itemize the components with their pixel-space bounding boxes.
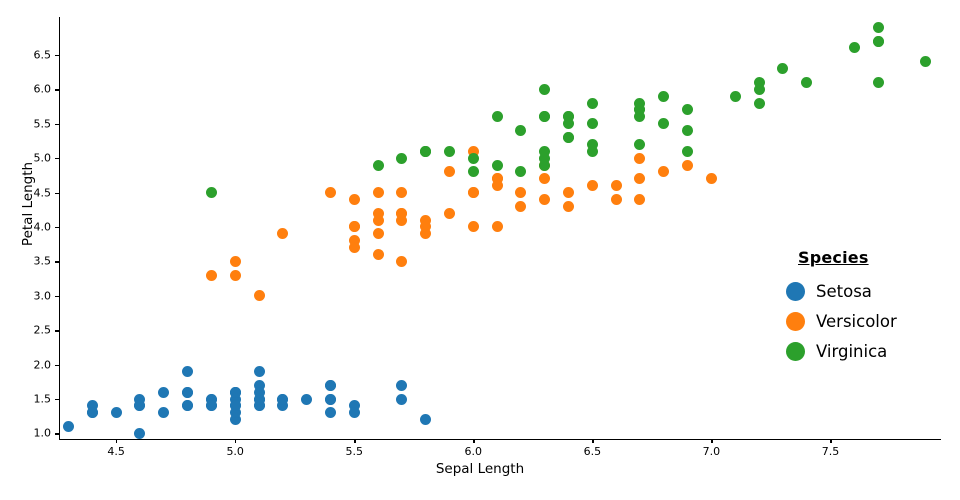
data-point xyxy=(492,111,503,122)
data-point xyxy=(754,98,765,109)
data-point xyxy=(658,91,669,102)
x-tick-mark xyxy=(354,439,355,443)
data-point xyxy=(658,166,669,177)
data-point xyxy=(468,166,479,177)
data-point xyxy=(182,400,193,411)
data-point xyxy=(396,394,407,405)
data-point xyxy=(634,194,645,205)
data-point xyxy=(634,153,645,164)
data-point xyxy=(468,187,479,198)
x-tick-label: 5.0 xyxy=(226,445,244,458)
data-point xyxy=(230,387,241,398)
data-point xyxy=(254,290,265,301)
x-tick-mark xyxy=(592,439,593,443)
data-point xyxy=(492,160,503,171)
data-point xyxy=(492,180,503,191)
data-point xyxy=(396,256,407,267)
data-point xyxy=(682,160,693,171)
data-point xyxy=(325,394,336,405)
data-point xyxy=(873,77,884,88)
data-point xyxy=(515,125,526,136)
data-point xyxy=(515,166,526,177)
legend-item-versicolor[interactable]: Versicolor xyxy=(786,306,956,336)
y-tick-mark xyxy=(55,227,59,228)
y-tick-mark xyxy=(55,158,59,159)
data-point xyxy=(158,387,169,398)
data-point xyxy=(396,215,407,226)
data-point xyxy=(611,180,622,191)
data-point xyxy=(563,201,574,212)
data-point xyxy=(539,194,550,205)
data-point xyxy=(277,394,288,405)
data-point xyxy=(754,84,765,95)
data-point xyxy=(682,146,693,157)
data-point xyxy=(349,194,360,205)
x-tick-label: 5.5 xyxy=(346,445,364,458)
y-tick-mark xyxy=(55,296,59,297)
data-point xyxy=(444,208,455,219)
data-point xyxy=(182,366,193,377)
data-point xyxy=(420,146,431,157)
data-point xyxy=(515,201,526,212)
legend-marker-icon xyxy=(786,312,805,331)
data-point xyxy=(587,98,598,109)
x-axis-label: Sepal Length xyxy=(0,461,960,477)
x-tick-label: 6.0 xyxy=(465,445,483,458)
data-point xyxy=(849,42,860,53)
data-point xyxy=(444,146,455,157)
x-tick-label: 6.5 xyxy=(584,445,602,458)
x-tick-mark xyxy=(473,439,474,443)
data-point xyxy=(444,166,455,177)
data-point xyxy=(539,84,550,95)
legend-item-virginica[interactable]: Virginica xyxy=(786,336,956,366)
data-point xyxy=(801,77,812,88)
data-point xyxy=(515,187,526,198)
data-point xyxy=(706,173,717,184)
legend-title: Species xyxy=(798,248,956,267)
x-tick-label: 4.5 xyxy=(107,445,125,458)
x-tick-mark xyxy=(116,439,117,443)
data-point xyxy=(325,407,336,418)
x-tick-label: 7.5 xyxy=(822,445,840,458)
x-tick-mark xyxy=(830,439,831,443)
data-point xyxy=(634,173,645,184)
y-tick-mark xyxy=(55,365,59,366)
data-point xyxy=(373,187,384,198)
legend-entries: SetosaVersicolorVirginica xyxy=(786,276,956,366)
y-tick-label: 1.0 xyxy=(11,427,51,440)
data-point xyxy=(563,132,574,143)
data-point xyxy=(587,139,598,150)
data-point xyxy=(920,56,931,67)
y-tick-mark xyxy=(55,261,59,262)
data-point xyxy=(349,242,360,253)
scatter-plot-figure: 1.01.52.02.53.03.54.04.55.05.56.06.54.55… xyxy=(0,0,960,500)
data-point xyxy=(373,160,384,171)
y-tick-mark xyxy=(55,124,59,125)
data-point xyxy=(468,221,479,232)
data-point xyxy=(373,228,384,239)
y-axis-label: Petal Length xyxy=(20,0,36,414)
x-tick-mark xyxy=(235,439,236,443)
data-point xyxy=(206,400,217,411)
data-point xyxy=(206,187,217,198)
data-point xyxy=(634,139,645,150)
data-point xyxy=(611,194,622,205)
data-point xyxy=(587,180,598,191)
data-point xyxy=(420,414,431,425)
legend-item-label: Setosa xyxy=(816,282,872,301)
data-point xyxy=(254,366,265,377)
data-point xyxy=(777,63,788,74)
x-tick-mark xyxy=(711,439,712,443)
y-tick-mark xyxy=(55,330,59,331)
data-point xyxy=(539,111,550,122)
data-point xyxy=(873,36,884,47)
y-tick-mark xyxy=(55,89,59,90)
data-point xyxy=(206,270,217,281)
data-point xyxy=(563,118,574,129)
data-point xyxy=(682,125,693,136)
data-point xyxy=(182,387,193,398)
data-point xyxy=(63,421,74,432)
data-point xyxy=(230,256,241,267)
data-point xyxy=(230,270,241,281)
x-tick-label: 7.0 xyxy=(703,445,721,458)
data-point xyxy=(587,118,598,129)
data-point xyxy=(134,428,145,439)
data-point xyxy=(492,221,503,232)
data-point xyxy=(254,387,265,398)
data-point xyxy=(563,187,574,198)
data-point xyxy=(373,208,384,219)
data-point xyxy=(873,22,884,33)
data-point xyxy=(111,407,122,418)
legend-item-setosa[interactable]: Setosa xyxy=(786,276,956,306)
data-point xyxy=(87,407,98,418)
data-point xyxy=(396,153,407,164)
data-point xyxy=(277,228,288,239)
data-point xyxy=(325,380,336,391)
y-tick-mark xyxy=(55,399,59,400)
legend-item-label: Virginica xyxy=(816,342,887,361)
data-point xyxy=(468,153,479,164)
y-tick-mark xyxy=(55,433,59,434)
legend-item-label: Versicolor xyxy=(816,312,897,331)
data-point xyxy=(658,118,669,129)
data-point xyxy=(158,407,169,418)
data-point xyxy=(396,187,407,198)
legend-marker-icon xyxy=(786,342,805,361)
y-tick-mark xyxy=(55,55,59,56)
data-point xyxy=(134,400,145,411)
data-point xyxy=(539,173,550,184)
data-point xyxy=(325,187,336,198)
data-point xyxy=(539,153,550,164)
legend-marker-icon xyxy=(786,282,805,301)
data-point xyxy=(349,407,360,418)
y-tick-mark xyxy=(55,193,59,194)
data-point xyxy=(730,91,741,102)
legend: Species SetosaVersicolorVirginica xyxy=(786,248,956,366)
data-point xyxy=(373,249,384,260)
data-point xyxy=(396,380,407,391)
data-point xyxy=(682,104,693,115)
data-point xyxy=(301,394,312,405)
plot-area: 1.01.52.02.53.03.54.04.55.05.56.06.54.55… xyxy=(59,17,940,439)
data-point xyxy=(349,221,360,232)
